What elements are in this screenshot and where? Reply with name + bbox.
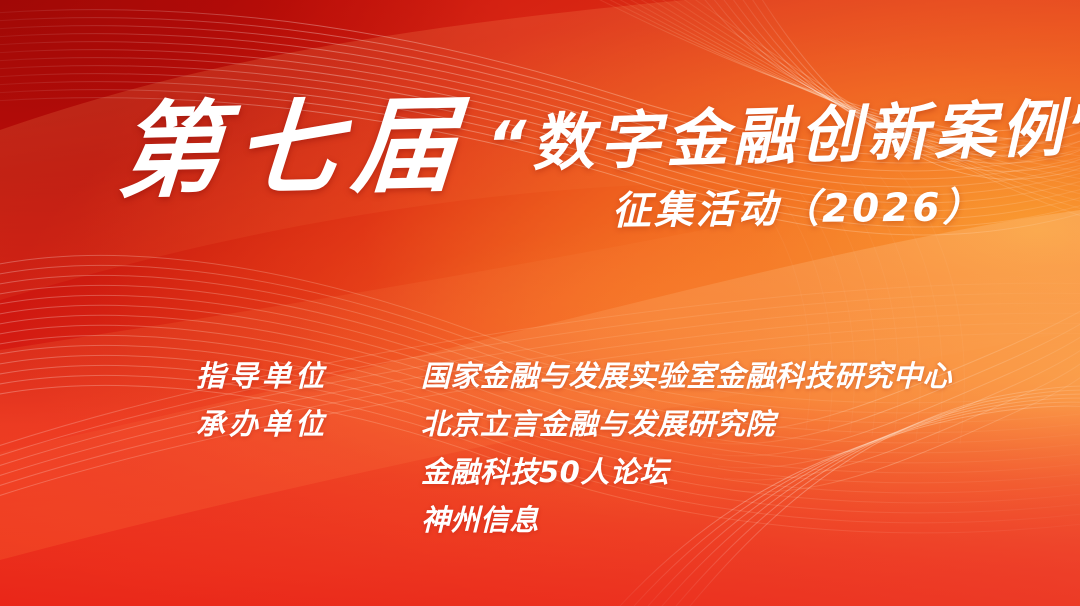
credit-label-organizer: 承办单位 [196, 406, 328, 442]
credit-value-organizer-2: 神州信息 [421, 502, 539, 538]
credit-row-organizer: 承办单位 北京立言金融与发展研究院 [196, 406, 1036, 454]
credit-value-guidance-0: 国家金融与发展实验室金融科技研究中心 [421, 358, 952, 394]
title-edition: 第七届 [115, 93, 474, 204]
title-subtitle-year: 征集活动（2026） [612, 188, 985, 231]
title-block: 第七届 “数字金融创新案例” 征集活动（2026） [0, 96, 1080, 256]
credit-value-organizer-1: 金融科技50人论坛 [421, 454, 669, 490]
poster-canvas: 第七届 “数字金融创新案例” 征集活动（2026） 指导单位 国家金融与发展实验… [0, 0, 1080, 606]
credit-row-guidance: 指导单位 国家金融与发展实验室金融科技研究中心 [196, 358, 1036, 406]
credit-value-organizer-0: 北京立言金融与发展研究院 [421, 406, 775, 442]
credits-block: 指导单位 国家金融与发展实验室金融科技研究中心 承办单位 北京立言金融与发展研究… [196, 358, 1036, 550]
title-quoted-theme: “数字金融创新案例” [486, 97, 1080, 176]
credit-row-organizer-2: 金融科技50人论坛 [196, 454, 1036, 502]
credit-row-organizer-3: 神州信息 [196, 502, 1036, 550]
credit-label-guidance: 指导单位 [196, 358, 328, 394]
